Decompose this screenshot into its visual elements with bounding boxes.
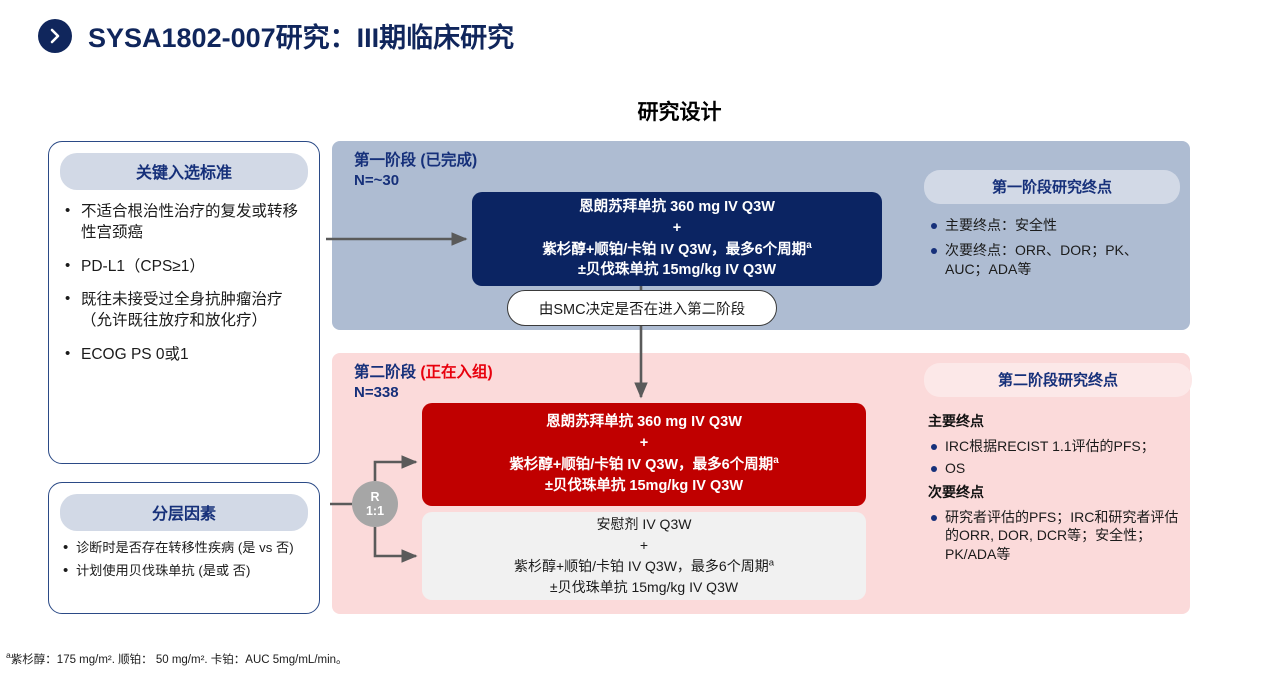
list-item: 既往未接受过全身抗肿瘤治疗（允许既往放疗和放化疗）	[65, 290, 305, 332]
phase2-label-prefix: 第二阶段	[354, 364, 420, 381]
phase1-endpoints-heading: 第一阶段研究终点	[924, 170, 1180, 204]
phase2-active-line3-footnote-marker: a	[773, 455, 778, 466]
phase1-label-prefix: 第一阶段	[354, 152, 420, 169]
phase2-placebo-line3-text: 紫杉醇+顺铂/卡铂 IV Q3W，最多6个周期	[514, 558, 769, 574]
phase2-sample-size: N=338	[354, 383, 493, 403]
phase2-placebo-arm: 安慰剂 IV Q3W + 紫杉醇+顺铂/卡铂 IV Q3W，最多6个周期a ±贝…	[422, 512, 866, 600]
randomization-letter: R	[370, 490, 379, 504]
phase2-active-line4: ±贝伐珠单抗 15mg/kg IV Q3W	[545, 476, 743, 497]
footnote-text: 紫杉醇：175 mg/m². 顺铂： 50 mg/m². 卡铂：AUC 5mg/…	[11, 654, 348, 666]
list-item: 诊断时是否存在转移性疾病 (是 vs 否)	[63, 539, 309, 556]
section-title: 研究设计	[0, 96, 1279, 126]
phase1-treatment-arm: 恩朗苏拜单抗 360 mg IV Q3W + 紫杉醇+顺铂/卡铂 IV Q3W，…	[472, 192, 882, 286]
phase2-primary-endpoints-list: IRC根据RECIST 1.1评估的PFS； OS	[924, 434, 1192, 478]
phase1-arm-plus: +	[673, 218, 681, 239]
footnote: a紫杉醇：175 mg/m². 顺铂： 50 mg/m². 卡铂：AUC 5mg…	[6, 650, 348, 667]
phase2-secondary-endpoints-label: 次要终点	[928, 482, 1192, 502]
phase1-label: 第一阶段 (已完成) N=~30	[354, 151, 477, 191]
phase1-arm-line3-text: 紫杉醇+顺铂/卡铂 IV Q3W，最多6个周期	[542, 241, 806, 257]
phase2-placebo-line4: ±贝伐珠单抗 15mg/kg IV Q3W	[550, 577, 738, 598]
stratification-list: 诊断时是否存在转移性疾病 (是 vs 否) 计划使用贝伐珠单抗 (是或 否)	[49, 531, 319, 579]
stratification-factors-card: 分层因素 诊断时是否存在转移性疾病 (是 vs 否) 计划使用贝伐珠单抗 (是或…	[48, 482, 320, 614]
phase2-endpoints-card: 第二阶段研究终点 主要终点 IRC根据RECIST 1.1评估的PFS； OS …	[924, 363, 1192, 603]
list-item: ECOG PS 0或1	[65, 345, 305, 366]
criteria-list: 不适合根治性治疗的复发或转移性宫颈癌 PD-L1（CPS≥1） 既往未接受过全身…	[49, 190, 319, 366]
list-item: IRC根据RECIST 1.1评估的PFS；	[928, 437, 1190, 455]
list-item: PD-L1（CPS≥1）	[65, 257, 305, 278]
phase1-endpoints-list: 主要终点：安全性 次要终点：ORR、DOR；PK、AUC；ADA等	[924, 204, 1180, 278]
phase2-placebo-plus: +	[640, 535, 648, 556]
phase2-placebo-line3: 紫杉醇+顺铂/卡铂 IV Q3W，最多6个周期a	[514, 556, 774, 577]
phase2-secondary-endpoints-list: 研究者评估的PFS；IRC和研究者评估的ORR, DOR, DCR等；安全性；P…	[924, 505, 1192, 563]
criteria-card-heading: 关键入选标准	[60, 153, 308, 190]
phase1-endpoints-card: 第一阶段研究终点 主要终点：安全性 次要终点：ORR、DOR；PK、AUC；AD…	[924, 170, 1180, 310]
phase1-arm-line1: 恩朗苏拜单抗 360 mg IV Q3W	[579, 197, 775, 218]
phase2-active-line3-text: 紫杉醇+顺铂/卡铂 IV Q3W，最多6个周期	[509, 457, 773, 473]
phase1-arm-line3: 紫杉醇+顺铂/卡铂 IV Q3W，最多6个周期a	[542, 239, 811, 261]
chevron-right-circle-icon	[38, 19, 72, 53]
phase2-label: 第二阶段 (正在入组) N=338	[354, 363, 493, 403]
phase2-status: (正在入组)	[420, 364, 492, 381]
list-item: 次要终点：ORR、DOR；PK、AUC；ADA等	[928, 241, 1178, 278]
phase2-active-line3: 紫杉醇+顺铂/卡铂 IV Q3W，最多6个周期a	[509, 454, 778, 476]
randomization-circle: R 1:1	[352, 481, 398, 527]
stratification-card-heading: 分层因素	[60, 494, 308, 531]
phase2-active-arm: 恩朗苏拜单抗 360 mg IV Q3W + 紫杉醇+顺铂/卡铂 IV Q3W，…	[422, 403, 866, 506]
smc-decision-box: 由SMC决定是否在进入第二阶段	[507, 290, 777, 326]
list-item: 研究者评估的PFS；IRC和研究者评估的ORR, DOR, DCR等；安全性；P…	[928, 508, 1190, 563]
phase1-arm-line4: ±贝伐珠单抗 15mg/kg IV Q3W	[578, 260, 776, 281]
randomization-ratio: 1:1	[366, 504, 384, 518]
phase2-endpoints-heading: 第二阶段研究终点	[924, 363, 1192, 397]
page-title: SYSA1802-007研究：III期临床研究	[88, 16, 514, 55]
phase1-arm-line3-footnote-marker: a	[806, 240, 811, 251]
slide-header: SYSA1802-007研究：III期临床研究	[38, 16, 514, 55]
list-item: OS	[928, 459, 1190, 477]
phase2-primary-endpoints-label: 主要终点	[928, 411, 1192, 431]
key-inclusion-criteria-card: 关键入选标准 不适合根治性治疗的复发或转移性宫颈癌 PD-L1（CPS≥1） 既…	[48, 141, 320, 464]
phase1-status: (已完成)	[420, 152, 477, 169]
phase2-active-line1: 恩朗苏拜单抗 360 mg IV Q3W	[546, 412, 742, 433]
phase2-placebo-line1: 安慰剂 IV Q3W	[597, 514, 692, 535]
phase1-sample-size: N=~30	[354, 171, 477, 191]
list-item: 主要终点：安全性	[928, 216, 1178, 234]
phase2-active-plus: +	[640, 433, 648, 454]
list-item: 不适合根治性治疗的复发或转移性宫颈癌	[65, 202, 305, 244]
phase2-endpoints-body: 主要终点 IRC根据RECIST 1.1评估的PFS； OS 次要终点 研究者评…	[924, 397, 1192, 563]
list-item: 计划使用贝伐珠单抗 (是或 否)	[63, 562, 309, 579]
phase2-placebo-line3-footnote-marker: a	[769, 557, 774, 568]
